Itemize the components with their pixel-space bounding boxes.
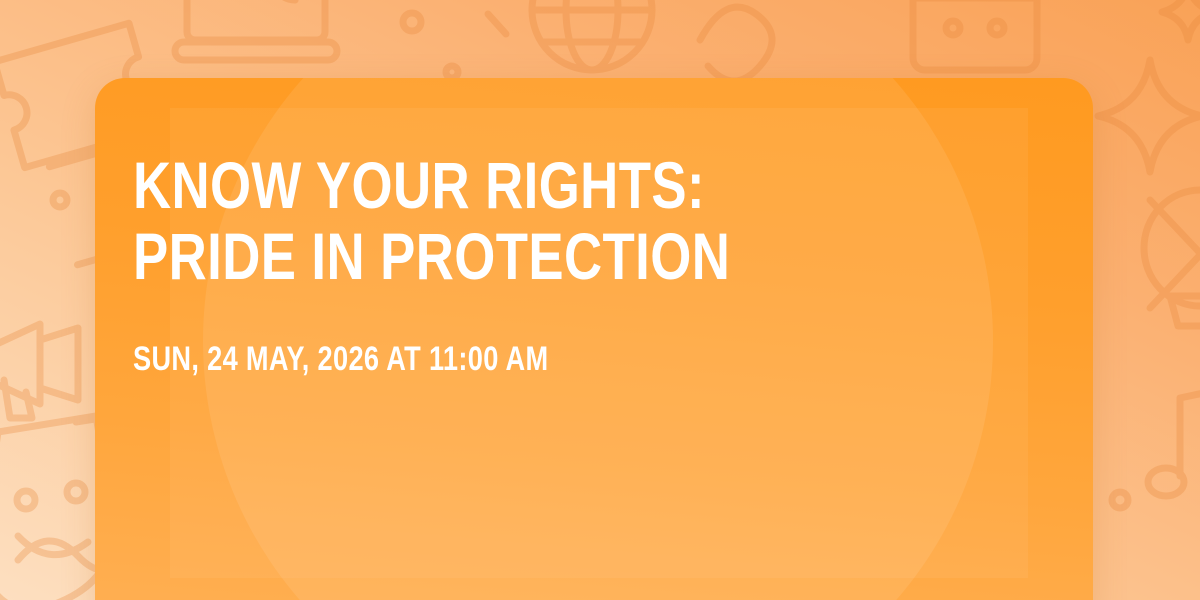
event-datetime: Sun, 24 May, 2026 at 11:00 AM bbox=[133, 293, 821, 378]
calendar-doodle bbox=[913, 0, 1037, 70]
sparkle-star-doodle bbox=[1162, 0, 1200, 40]
megaphone-doodle bbox=[0, 324, 78, 418]
event-title: Know Your Rights: Pride in Protection bbox=[133, 150, 821, 293]
confetti-dot-doodle bbox=[403, 13, 506, 78]
card-content: Know Your Rights: Pride in Protection Su… bbox=[133, 150, 993, 378]
streamer-doodle bbox=[700, 7, 772, 81]
globe-doodle bbox=[532, 0, 652, 70]
laptop-doodle bbox=[175, 0, 337, 60]
sparkle-star-doodle bbox=[1098, 60, 1200, 172]
music-note-doodle bbox=[1148, 384, 1200, 496]
hot-air-balloon-doodle bbox=[1144, 190, 1200, 326]
event-banner: Know Your Rights: Pride in Protection Su… bbox=[0, 0, 1200, 600]
event-card: Know Your Rights: Pride in Protection Su… bbox=[95, 78, 1093, 600]
